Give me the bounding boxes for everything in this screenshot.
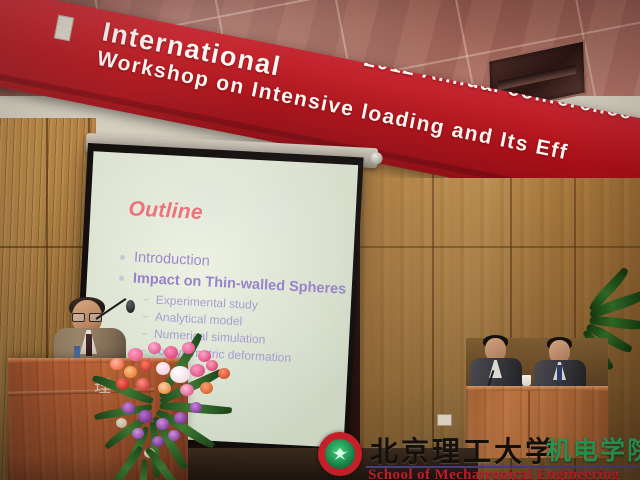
panelist-left: [470, 334, 522, 388]
flower-bloom: [180, 384, 194, 396]
flower-bloom: [148, 342, 161, 354]
flower-bloom: [190, 364, 205, 377]
flower-lily: [156, 362, 170, 375]
flower-orchid: [152, 436, 164, 447]
flower-bloom: [158, 382, 171, 394]
flower-orchid: [138, 410, 152, 423]
flower-bloom: [218, 368, 230, 379]
panelist-right: [534, 336, 586, 390]
watermark-english: School of Mechatronical Engineering: [368, 467, 620, 480]
bullet-dash-icon: [144, 299, 149, 300]
speaker-tie: [86, 334, 92, 356]
flower-orchid: [122, 402, 135, 414]
flower-bloom: [116, 378, 129, 390]
flower-bloom: [136, 378, 150, 391]
water-cup[interactable]: [522, 375, 531, 386]
slide-sub-bullet-label: Analytical model: [155, 310, 243, 329]
bullet-dot-icon: [119, 276, 124, 281]
watermark-chinese-primary: 北京理工大学: [370, 430, 556, 470]
flower-orchid: [168, 430, 180, 441]
microphone-icon[interactable]: [126, 300, 135, 313]
flower-bloom: [164, 346, 178, 359]
flower-orchid: [174, 412, 187, 424]
slide-title: Outline: [128, 197, 204, 225]
flower-orchid: [132, 428, 144, 439]
wall-outlet-icon[interactable]: [437, 414, 452, 426]
flower-orchid: [156, 418, 169, 430]
watermark-logo: 北京理工大学 机电学院 School of Mechatronical Engi…: [310, 428, 640, 480]
palm-leaf: [136, 459, 149, 480]
conference-photo: International Workshop on Intensive load…: [0, 0, 640, 480]
bullet-dash-icon: [142, 333, 147, 334]
flower-bloom: [124, 366, 137, 378]
flower-bloom: [128, 348, 143, 361]
flower-orchid: [190, 402, 202, 413]
slide-bullet-label: Introduction: [134, 250, 211, 270]
bullet-dot-icon: [120, 255, 125, 260]
flower-bloom: [182, 342, 195, 354]
seal-inner: [325, 439, 355, 469]
flower-bloom: [110, 358, 124, 370]
flower-bloom: [140, 360, 152, 371]
flower-lily: [170, 366, 190, 383]
university-seal-icon: [318, 432, 362, 476]
panelist-tie: [557, 365, 562, 381]
bullet-dash-icon: [143, 316, 148, 317]
flower-bloom: [206, 360, 218, 371]
watermark-chinese-secondary: 机电学院: [546, 431, 640, 467]
seal-emblem-icon: [332, 448, 348, 460]
slide-sub-bullet-label: Experimental study: [156, 293, 259, 312]
palm-leaf: [104, 446, 145, 480]
flower-bloom: [200, 382, 213, 394]
flower-bud: [116, 418, 127, 428]
